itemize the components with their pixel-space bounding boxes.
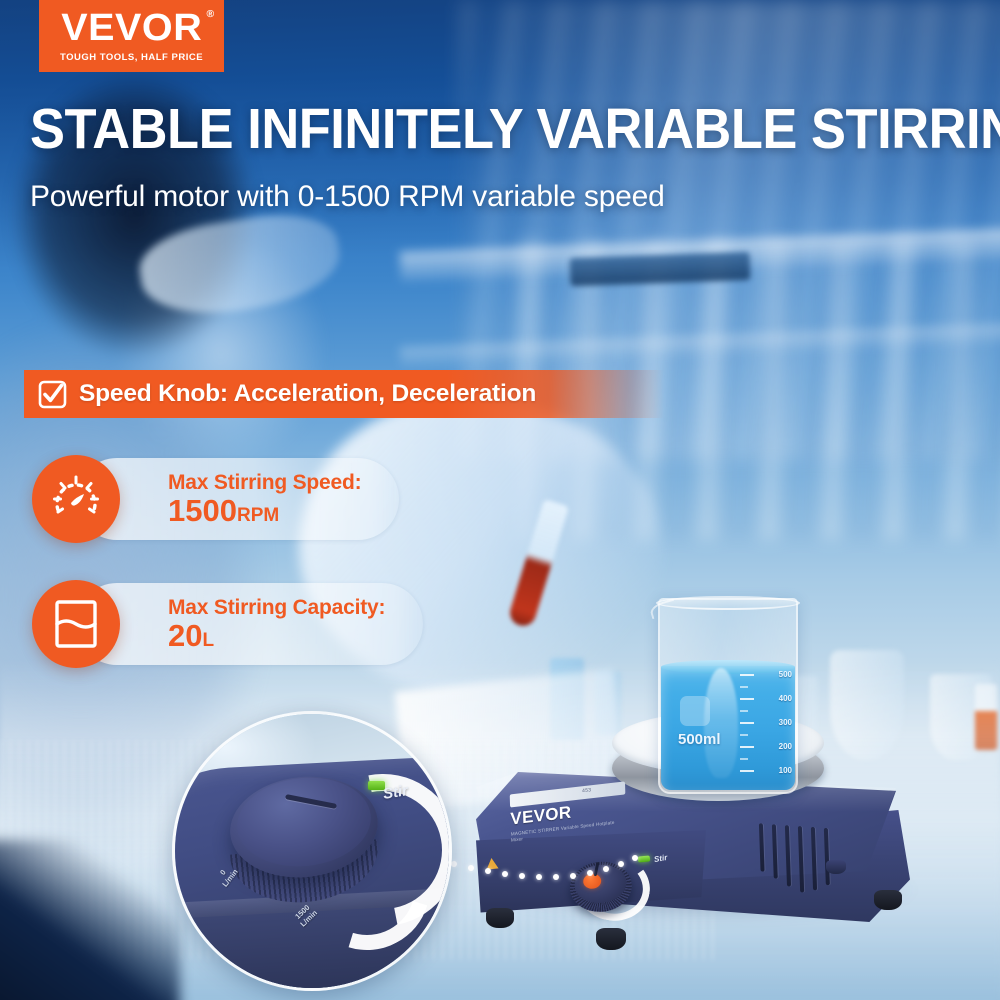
feature-banner: Speed Knob: Acceleration, Deceleration: [24, 370, 664, 418]
beaker-graduations: 500 400 300 200 100: [740, 670, 794, 788]
spec-number: 1500: [168, 493, 237, 528]
device-model-tag: 453: [582, 787, 591, 794]
spec-unit: RPM: [237, 505, 279, 526]
stirring-vortex: [704, 668, 738, 778]
vevor-logo: VEVOR® TOUGH TOOLS, HALF PRICE: [39, 0, 224, 72]
rubber-foot: [874, 890, 902, 910]
spec-card-speed: Max Stirring Speed: 1500RPM: [32, 455, 399, 543]
checkbox-checked-icon: [38, 380, 67, 409]
product-marketing-image: VEVOR® TOUGH TOOLS, HALF PRICE STABLE IN…: [0, 0, 1000, 1000]
spec-pill: Max Stirring Speed: 1500RPM: [76, 458, 399, 540]
page-title: STABLE INFINITELY VARIABLE STIRRING: [30, 101, 1000, 158]
registered-trademark-icon: ®: [206, 10, 214, 20]
logo-tagline: TOUGH TOOLS, HALF PRICE: [60, 52, 203, 63]
beaker-capacity-label: 500ml: [678, 731, 721, 748]
spec-number: 20: [168, 618, 202, 653]
logo-wordmark: VEVOR®: [61, 9, 202, 47]
speedometer-icon: [32, 455, 120, 543]
spec-value: 20L: [168, 619, 385, 652]
beaker-liquid-level-icon: [32, 580, 120, 668]
feature-banner-text: Speed Knob: Acceleration, Deceleration: [79, 380, 536, 408]
glass-beaker: 500ml 500 400 300 200 100: [648, 588, 808, 800]
rubber-foot: [826, 860, 846, 874]
knob-closeup-magnifier: Stir 0L/min 1500L/min: [172, 711, 452, 991]
spec-value: 1500RPM: [168, 494, 361, 527]
spec-pill: Max Stirring Capacity: 20L: [76, 583, 423, 665]
rubber-foot: [486, 908, 514, 928]
rubber-foot: [596, 928, 626, 950]
spec-label: Max Stirring Capacity:: [168, 596, 385, 620]
spec-label: Max Stirring Speed:: [168, 471, 361, 495]
page-subtitle: Powerful motor with 0-1500 RPM variable …: [30, 180, 665, 213]
spec-unit: L: [202, 630, 214, 651]
spec-card-capacity: Max Stirring Capacity: 20L: [32, 580, 423, 668]
